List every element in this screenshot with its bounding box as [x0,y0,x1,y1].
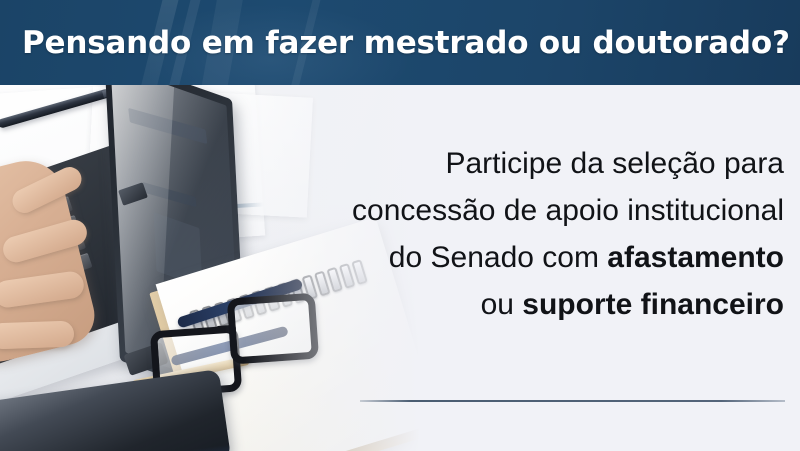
message-line-3: do Senado com afastamento [304,234,784,281]
message-line-3-bold: afastamento [607,241,784,274]
header-banner: Pensando em fazer mestrado ou doutorado? [0,0,800,85]
finger [0,321,74,350]
message-line-4-bold: suporte financeiro [522,288,784,321]
horizontal-rule [360,400,785,402]
promo-message: Participe da seleção para concessão de a… [304,140,784,328]
message-line-4: ou suporte financeiro [304,281,784,328]
message-line-3-regular: do Senado com [389,241,607,274]
message-line-4-regular: ou [481,288,523,321]
message-line-1: Participe da seleção para [304,140,784,187]
banner-canvas: Pensando em fazer mestrado ou doutorado?… [0,0,800,451]
message-line-2: concessão de apoio institucional [304,187,784,234]
page-title: Pensando em fazer mestrado ou doutorado? [22,25,790,61]
